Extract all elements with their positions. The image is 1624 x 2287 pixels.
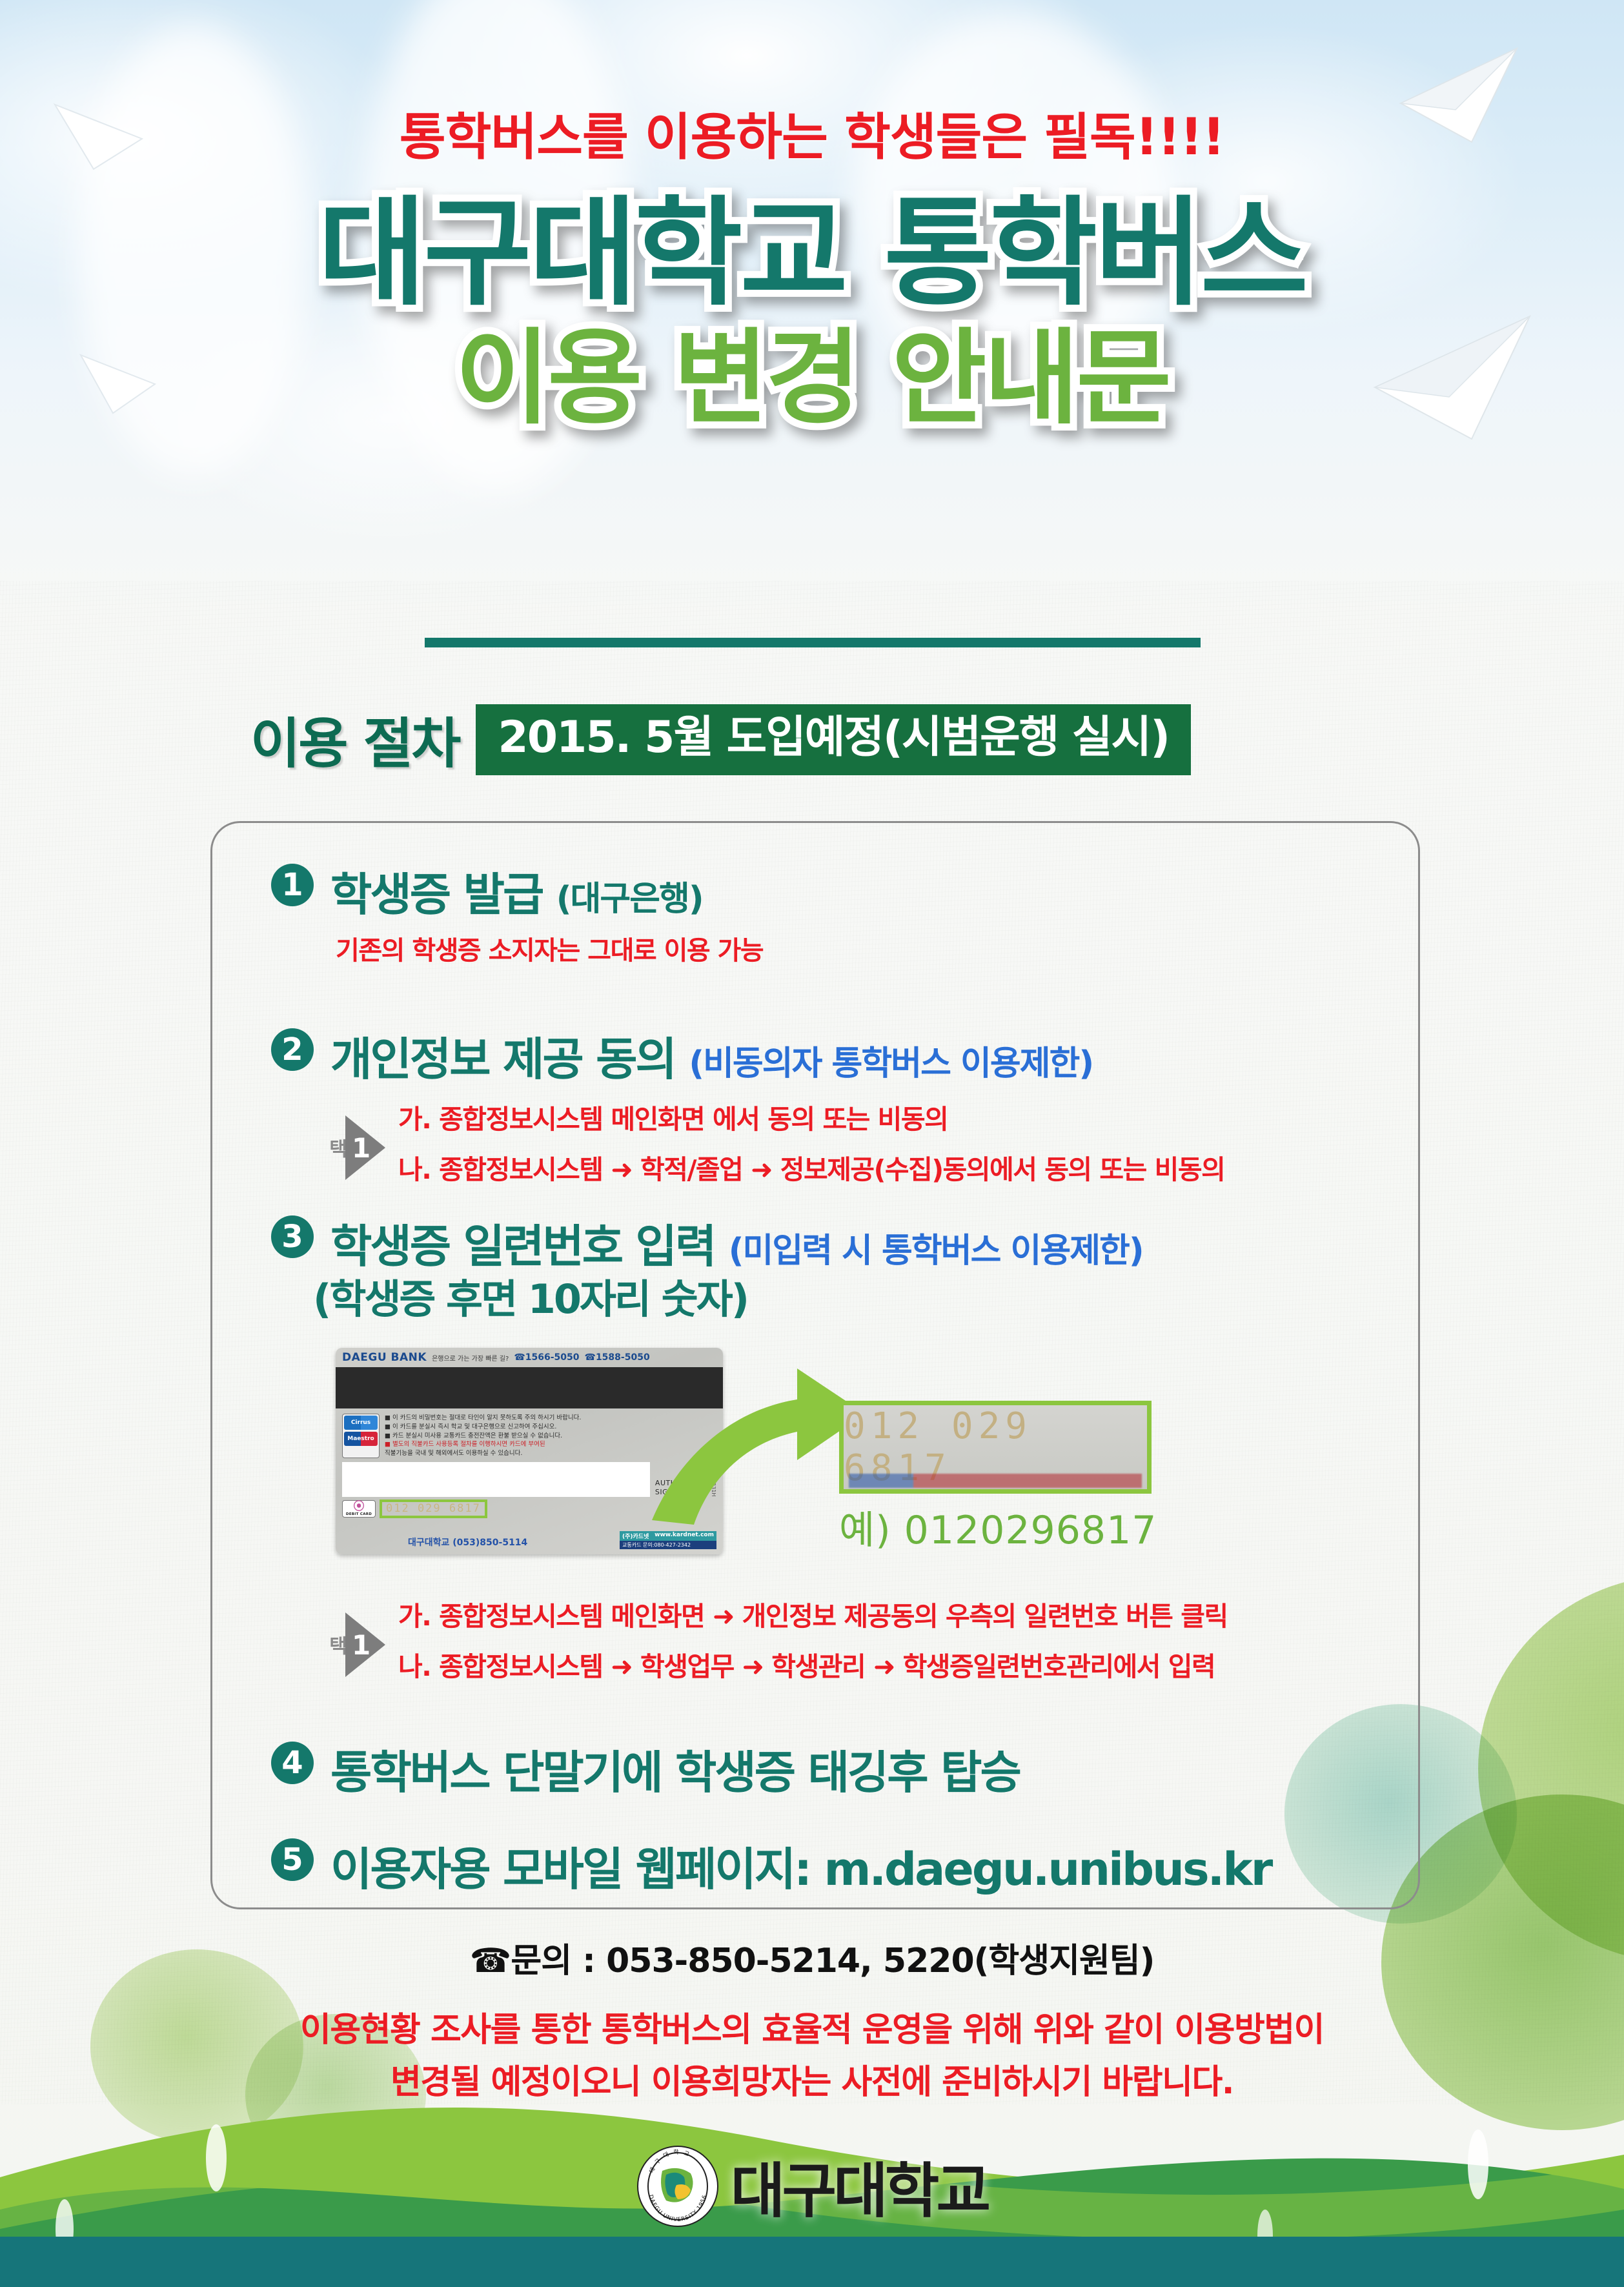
serial-example-text: 예) 0120296817 [839,1499,1157,1555]
section-header: 이용 절차 2015. 5월 도입예정(시범운행 실시) [250,700,1191,778]
card-warning-2: ■ 이 카드를 분실시 즉시 학교 및 대구은행으로 신고하여 주십시오. [385,1423,581,1432]
poster-root: 통학버스를 이용하는 학생들은 필독!!!! 대구대학교 통학버스 이용 변경 … [0,0,1624,2287]
kardnet-row-1: (주)카드넷 www.kardnet.com [620,1531,716,1541]
step-2-paren: (비동의자 통학버스 이용제한) [689,1044,1093,1083]
headline-text: 통학버스를 이용하는 학생들은 필독!!!! [0,97,1624,169]
step-2-option-a: 가. 종합정보시스템 메인화면 에서 동의 또는 비동의 [398,1097,1224,1136]
step-2-option-b: 나. 종합정보시스템 ➜ 학적/졸업 ➜ 정보제공(수집)동의에서 동의 또는 … [398,1148,1224,1186]
kardnet-url: www.kardnet.com [655,1532,714,1540]
card-signature-panel [342,1462,650,1497]
title-line-1: 대구대학교 통학버스 [0,194,1624,314]
step-3-pick-count: 1 [352,1629,370,1661]
step-1-paren: (대구은행) [556,880,703,919]
card-serial-number: 012 029 6817 [380,1499,487,1518]
step-5: 5 이용자용 모바일 웹페이지: m.daegu.unibus.kr [271,1833,1271,1898]
bottom-message-line-2: 변경될 예정이오니 이용희망자는 사전에 준비하시기 바랍니다. [0,2057,1624,2109]
step-3-pick-label: 택 [326,1636,345,1654]
card-bank-tagline: 은행으로 가는 가장 빠른 길? [432,1353,509,1363]
step-1: 1 학생증 발급 (대구은행) [271,859,703,924]
card-warning-5: 직불기능을 국내 및 해외에서도 이용하실 수 있습니다. [385,1449,581,1458]
kardnet-inquiry: 교통카드 문의:080-427-2342 [620,1541,716,1549]
step-3-option-a: 가. 종합정보시스템 메인화면 ➜ 개인정보 제공동의 우측의 일련번호 버튼 … [398,1594,1228,1633]
step-3-paren: (미입력 시 통학버스 이용제한) [729,1232,1143,1270]
university-emblem-icon: 대 구 대 학 교 DAEGU UNIVERSITY 1956 [636,2145,719,2228]
maestro-logo-icon: Maestro [344,1432,378,1446]
step-3-option-b: 나. 종합정보시스템 ➜ 학생업무 ➜ 학생관리 ➜ 학생증일련번호관리에서 입… [398,1645,1228,1683]
step-2-pick-arrow-icon: 1 [345,1115,385,1180]
step-1-title: 학생증 발급 (대구은행) [330,859,703,924]
bottom-message-line-1: 이용현황 조사를 통한 통학버스의 효율적 운영을 위해 위와 같이 이용방법이 [0,2004,1624,2057]
step-3-pick-lines: 가. 종합정보시스템 메인화면 ➜ 개인정보 제공동의 우측의 일련번호 버튼 … [398,1594,1228,1695]
step-3-pick-one: 택 1 가. 종합정보시스템 메인화면 ➜ 개인정보 제공동의 우측의 일련번호… [326,1594,1228,1695]
kardnet-name: (주)카드넷 [622,1532,649,1540]
contact-line: ☎문의 : 053-850-5214, 5220(학생지원팀) [0,1933,1624,1982]
serial-callout-box: 012 029 6817 [839,1401,1152,1494]
debit-card-label: DEBIT CARD [343,1512,374,1516]
step-1-subtext: 기존의 학생증 소지자는 그대로 이용 가능 [336,930,763,967]
brand-name-text: 대구대학교 [731,2143,988,2229]
step-2-pick-lines: 가. 종합정보시스템 메인화면 에서 동의 또는 비동의 나. 종합정보시스템 … [398,1097,1224,1198]
step-2-pick-count: 1 [352,1132,370,1164]
card-warning-1: ■ 이 카드의 비밀번호는 절대로 타인이 알지 못하도록 주의 하시기 바랍니… [385,1414,581,1423]
step-3-pick-arrow-icon: 1 [345,1612,385,1677]
card-university-phone: 대구대학교 (053)850-5114 [408,1536,527,1549]
card-warnings: ■ 이 카드의 비밀번호는 절대로 타인이 알지 못하도록 주의 하시기 바랍니… [385,1414,581,1458]
title-line-2: 이용 변경 안내문 [0,325,1624,431]
debit-mark: ⦿ [343,1501,374,1512]
section-banner: 2015. 5월 도입예정(시범운행 실시) [476,704,1191,775]
step-1-number: 1 [271,864,314,906]
card-kardnet-block: (주)카드넷 www.kardnet.com 교통카드 문의:080-427-2… [620,1531,716,1549]
step-3-title: 학생증 일련번호 입력 (미입력 시 통학버스 이용제한) [330,1210,1143,1276]
callout-underprint [849,1474,1142,1488]
step-3-main-text: 학생증 일련번호 입력 [330,1220,715,1273]
section-label: 이용 절차 [250,700,459,778]
step-3-second-line: (학생증 후면 10자리 숫자) [313,1266,747,1325]
cirrus-logo-icon: Cirrus [344,1416,378,1430]
bottom-message: 이용현황 조사를 통한 통학버스의 효율적 운영을 위해 위와 같이 이용방법이… [0,2004,1624,2108]
step-2-main-text: 개인정보 제공 동의 [330,1033,675,1086]
step-2-title: 개인정보 제공 동의 (비동의자 통학버스 이용제한) [330,1023,1093,1088]
card-bank-name: DAEGU BANK [342,1351,427,1364]
card-phone-1: ☎1566-5050 [514,1352,579,1363]
card-warning-3: ■ 카드 분실시 미사용 교통카드 충전잔액은 환불 받으실 수 없습니다. [385,1432,581,1441]
step-2: 2 개인정보 제공 동의 (비동의자 통학버스 이용제한) [271,1023,1093,1088]
university-brand: 대 구 대 학 교 DAEGU UNIVERSITY 1956 대구대학교 [0,2143,1624,2229]
step-2-pick-one: 택 1 가. 종합정보시스템 메인화면 에서 동의 또는 비동의 나. 종합정보… [326,1097,1224,1198]
step-3-number: 3 [271,1215,314,1258]
step-4-title: 통학버스 단말기에 학생증 태깅후 탑승 [330,1736,1020,1802]
debit-card-logo-icon: ⦿ DEBIT CARD [342,1500,376,1518]
step-1-main-text: 학생증 발급 [330,868,542,921]
card-network-logos: Cirrus Maestro [342,1414,380,1458]
step-5-number: 5 [271,1838,314,1881]
green-arrow-icon [633,1349,871,1532]
title-divider [425,638,1201,647]
poster-title: 대구대학교 통학버스 이용 변경 안내문 [0,194,1624,431]
step-4-number: 4 [271,1742,314,1784]
footer-teal-bar [0,2237,1624,2287]
step-3: 3 학생증 일련번호 입력 (미입력 시 통학버스 이용제한) [271,1210,1143,1276]
step-2-pick-label: 택 [326,1139,345,1157]
card-warning-4: ■ 별도의 직불카드 사용등록 절차를 이행하시면 카드에 부여된 [385,1440,581,1449]
step-2-number: 2 [271,1028,314,1071]
step-5-title: 이용자용 모바일 웹페이지: m.daegu.unibus.kr [330,1833,1271,1898]
step-4: 4 통학버스 단말기에 학생증 태깅후 탑승 [271,1736,1020,1802]
